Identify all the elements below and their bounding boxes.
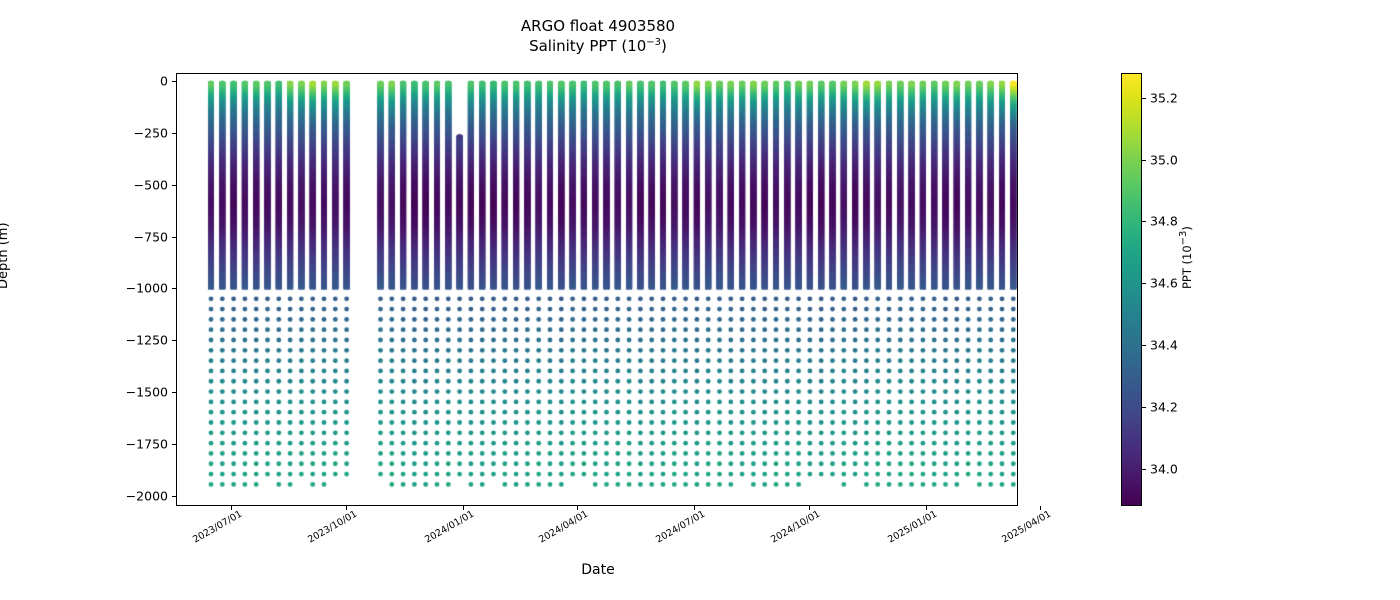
y-tick-label: −1500 [126, 385, 168, 400]
colorbar-label-suffix: ) [1180, 226, 1194, 231]
x-tick-mark [1040, 506, 1041, 510]
title-line-2-suffix: ) [661, 37, 667, 55]
x-tick-label: 2024/10/01 [769, 513, 814, 546]
x-tick-mark [926, 506, 927, 510]
x-tick-label: 2024/01/01 [423, 513, 468, 546]
y-tick-label: −2000 [126, 488, 168, 503]
title-line-2-exponent: −3 [646, 37, 661, 48]
y-tick-mark [172, 185, 176, 186]
y-tick-mark [172, 340, 176, 341]
colorbar-label: PPT (10−3) [1178, 226, 1194, 289]
figure-title: ARGO float 4903580 Salinity PPT (10−3) [0, 16, 1196, 57]
colorbar-tick-label: 34.8 [1150, 214, 1178, 229]
scatter-plot-area [177, 74, 1017, 505]
colorbar-tick-mark [1142, 345, 1146, 346]
y-tick-mark [172, 496, 176, 497]
y-tick-mark [172, 81, 176, 82]
colorbar-tick-mark [1142, 407, 1146, 408]
colorbar-tick-mark [1142, 221, 1146, 222]
y-tick-mark [172, 237, 176, 238]
x-tick-label: 2023/10/01 [306, 513, 351, 546]
colorbar-label-prefix: PPT (10 [1180, 245, 1194, 289]
colorbar-tick-label: 35.2 [1150, 90, 1178, 105]
y-tick-label: −1250 [126, 333, 168, 348]
title-line-2-prefix: Salinity PPT (10 [529, 37, 646, 55]
y-tick-mark [172, 288, 176, 289]
title-line-1: ARGO float 4903580 [0, 16, 1196, 36]
colorbar-tick-mark [1142, 469, 1146, 470]
y-tick-label: −1000 [126, 281, 168, 296]
y-tick-label: −500 [134, 177, 168, 192]
colorbar-tick-label: 35.0 [1150, 152, 1178, 167]
x-tick-label: 2024/04/01 [537, 513, 582, 546]
colorbar-tick-label: 34.2 [1150, 400, 1178, 415]
plot-axes [176, 73, 1018, 506]
colorbar-tick-label: 34.4 [1150, 338, 1178, 353]
x-tick-label: 2024/07/01 [654, 513, 699, 546]
colorbar-label-exponent: −3 [1178, 231, 1189, 246]
x-tick-mark [577, 506, 578, 510]
y-tick-label: −750 [134, 229, 168, 244]
colorbar-tick-label: 34.6 [1150, 276, 1178, 291]
x-tick-mark [809, 506, 810, 510]
y-tick-mark [172, 444, 176, 445]
x-tick-mark [463, 506, 464, 510]
y-tick-label: −250 [134, 126, 168, 141]
colorbar-tick-label: 34.0 [1150, 461, 1178, 476]
y-tick-mark [172, 392, 176, 393]
colorbar-gradient [1122, 74, 1141, 505]
x-tick-label: 2025/04/01 [1000, 513, 1045, 546]
x-tick-mark [694, 506, 695, 510]
x-axis-label: Date [0, 562, 1196, 578]
x-tick-label: 2023/07/01 [191, 513, 236, 546]
y-tick-label: 0 [160, 74, 168, 89]
figure-canvas: ARGO float 4903580 Salinity PPT (10−3) 0… [0, 0, 1400, 600]
y-tick-mark [172, 133, 176, 134]
colorbar-tick-mark [1142, 98, 1146, 99]
y-axis-label: Depth (m) [0, 222, 11, 289]
x-tick-mark [231, 506, 232, 510]
colorbar-tick-mark [1142, 283, 1146, 284]
y-tick-label: −1750 [126, 436, 168, 451]
x-tick-mark [346, 506, 347, 510]
title-line-2: Salinity PPT (10−3) [0, 36, 1196, 56]
colorbar [1121, 73, 1142, 506]
colorbar-tick-mark [1142, 160, 1146, 161]
x-tick-label: 2025/01/01 [886, 513, 931, 546]
